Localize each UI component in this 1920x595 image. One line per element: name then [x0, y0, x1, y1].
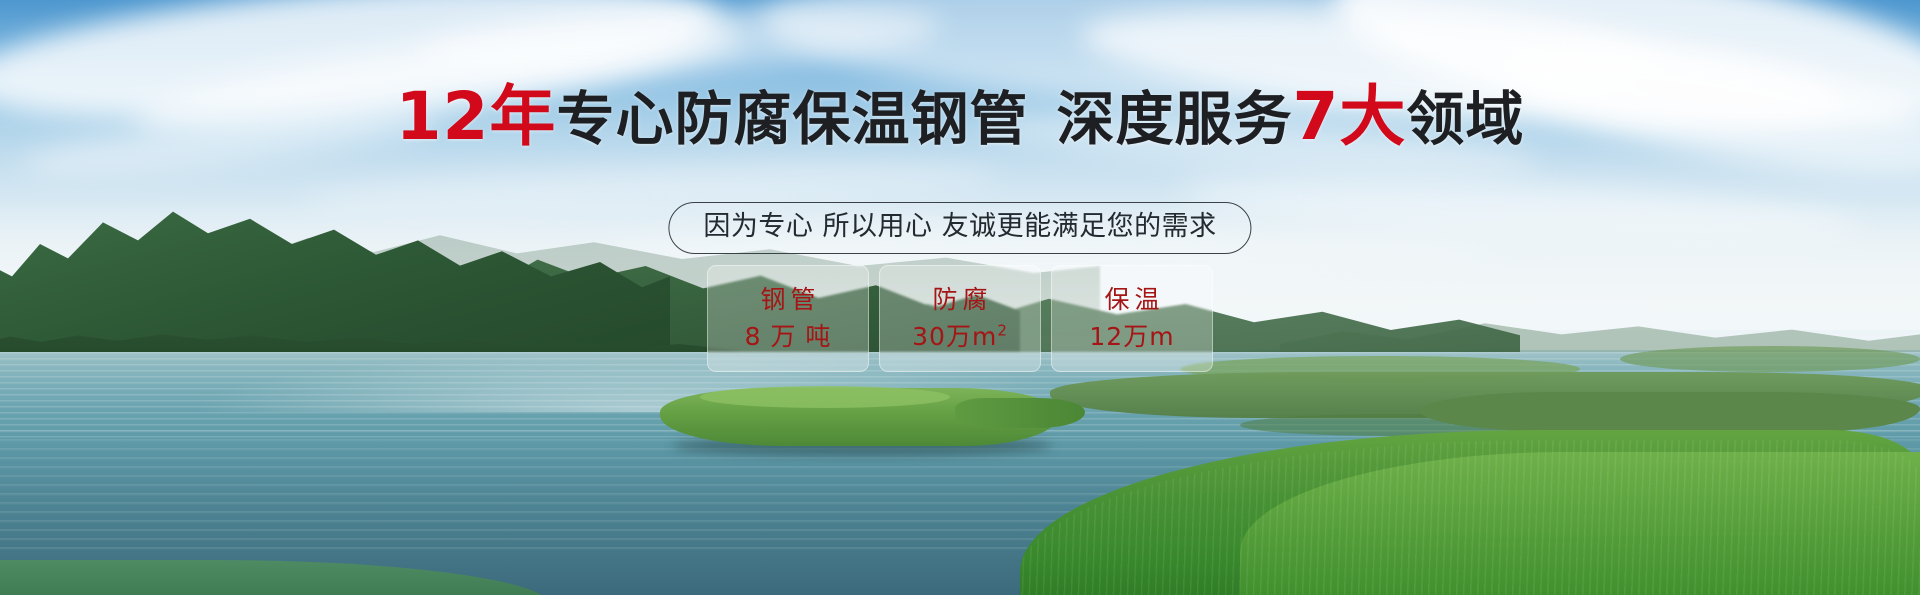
stat-card-value: 30万m2 — [912, 324, 1008, 350]
stat-card-anticorrosion[interactable]: 防腐 30万m2 — [879, 265, 1041, 372]
stat-value-superscript: 2 — [997, 322, 1008, 340]
headline-domains: 领域 — [1406, 85, 1524, 153]
headline-seven-fields: 7大 — [1292, 78, 1406, 155]
stat-card-label: 钢管 — [755, 287, 820, 313]
stat-card-label: 保温 — [1099, 287, 1164, 313]
stat-card-steel-pipe[interactable]: 钢管 8 万 吨 — [707, 265, 869, 372]
headline-service: 深度服务 — [1056, 85, 1292, 153]
stat-value-text: 30万m — [912, 322, 997, 351]
hero-banner: 12年专心防腐保温钢管深度服务7大领域 因为专心 所以用心 友诚更能满足您的需求… — [0, 0, 1920, 595]
headline: 12年专心防腐保温钢管深度服务7大领域 — [0, 86, 1920, 150]
headline-main: 专心防腐保温钢管 — [556, 85, 1028, 153]
stat-value-text: 12万m — [1089, 322, 1174, 351]
stats-card-group: 钢管 8 万 吨 防腐 30万m2 保温 12万m — [707, 265, 1213, 372]
banner-content: 12年专心防腐保温钢管深度服务7大领域 因为专心 所以用心 友诚更能满足您的需求… — [0, 0, 1920, 595]
slogan-pill: 因为专心 所以用心 友诚更能满足您的需求 — [668, 202, 1251, 254]
stat-card-value: 8 万 吨 — [745, 324, 832, 350]
stat-card-label: 防腐 — [927, 287, 992, 313]
stat-card-value: 12万m — [1089, 324, 1174, 350]
stat-card-insulation[interactable]: 保温 12万m — [1051, 265, 1213, 372]
stat-value-text: 8 万 吨 — [745, 322, 832, 351]
headline-years: 12年 — [396, 78, 557, 155]
